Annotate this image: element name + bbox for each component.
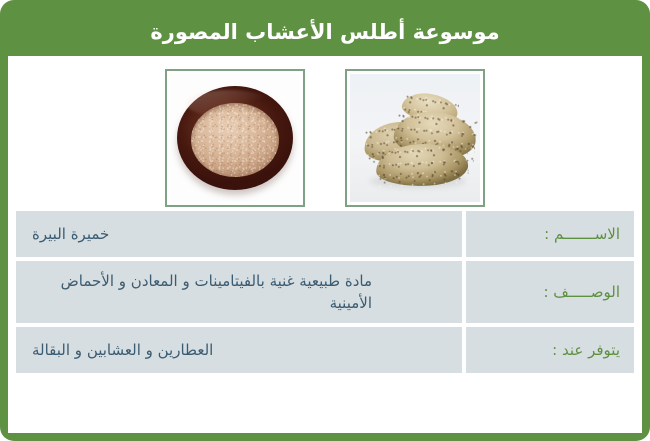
row-value-description: مادة طبيعية غنية بالفيتامينات و المعادن … xyxy=(16,261,462,323)
yeast-in-bowl-photo xyxy=(165,69,305,207)
powder-speck-texture xyxy=(375,141,469,188)
yeast-powder-heap-photo xyxy=(345,69,485,207)
row-value-name: خميرة البيرة xyxy=(16,211,462,257)
info-table: الاســـــــم : خميرة البيرة الوصـــــف :… xyxy=(8,211,642,433)
table-row-availability: يتوفر عند : العطارين و العشابين و البقال… xyxy=(16,327,634,373)
yeast-granules-fill xyxy=(191,103,279,177)
granule-texture xyxy=(191,103,279,177)
card-body: الاســـــــم : خميرة البيرة الوصـــــف :… xyxy=(8,56,642,433)
powder-heap-front xyxy=(375,141,469,188)
image-gallery xyxy=(8,56,642,211)
table-row-name: الاســـــــم : خميرة البيرة xyxy=(16,211,634,257)
bowl-shape xyxy=(177,86,293,190)
yeast-powder-heap-image xyxy=(350,74,480,202)
card-header: موسوعة أطلس الأعشاب المصورة xyxy=(8,8,642,56)
herb-encyclopedia-card: موسوعة أطلس الأعشاب المصورة xyxy=(0,0,650,441)
row-label-name: الاســـــــم : xyxy=(466,211,634,257)
table-row-description: الوصـــــف : مادة طبيعية غنية بالفيتامين… xyxy=(16,261,634,323)
page-title: موسوعة أطلس الأعشاب المصورة xyxy=(150,22,499,43)
row-value-availability: العطارين و العشابين و البقالة xyxy=(16,327,462,373)
row-value-description-text: مادة طبيعية غنية بالفيتامينات و المعادن … xyxy=(32,270,372,315)
row-label-description: الوصـــــف : xyxy=(466,261,634,323)
row-label-availability: يتوفر عند : xyxy=(466,327,634,373)
yeast-in-bowl-image xyxy=(170,74,300,202)
